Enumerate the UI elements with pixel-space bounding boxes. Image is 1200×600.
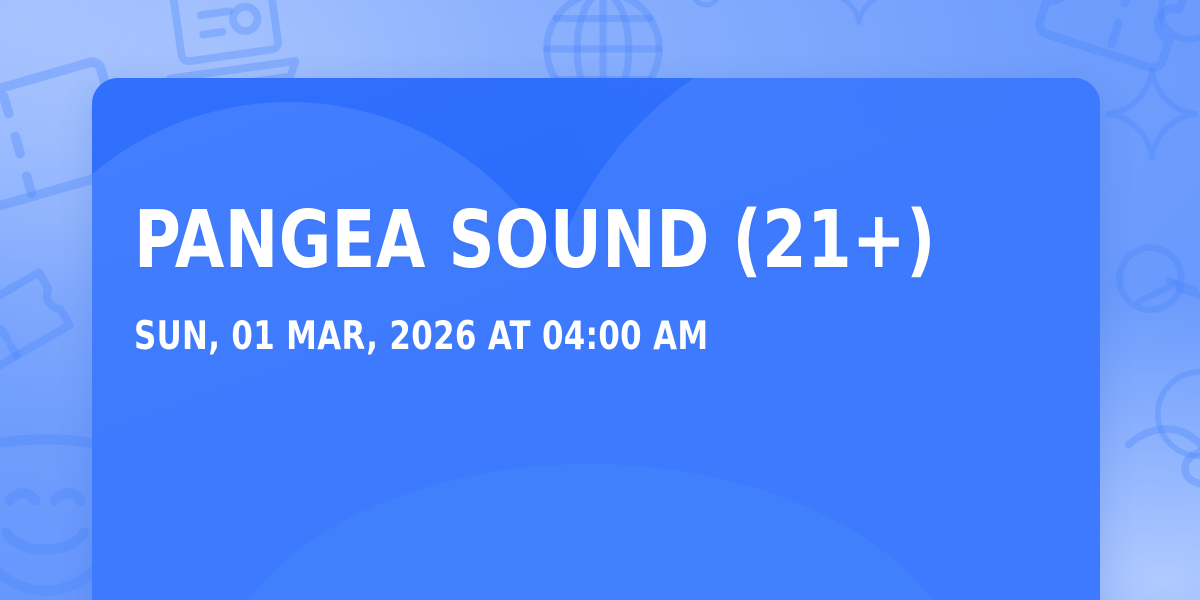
event-card-content: PANGEA SOUND (21+) SUN, 01 MAR, 2026 AT … bbox=[134, 78, 1058, 600]
event-datetime: SUN, 01 MAR, 2026 AT 04:00 AM bbox=[134, 317, 947, 356]
event-title: PANGEA SOUND (21+) bbox=[134, 204, 966, 277]
event-card[interactable]: PANGEA SOUND (21+) SUN, 01 MAR, 2026 AT … bbox=[92, 78, 1100, 600]
